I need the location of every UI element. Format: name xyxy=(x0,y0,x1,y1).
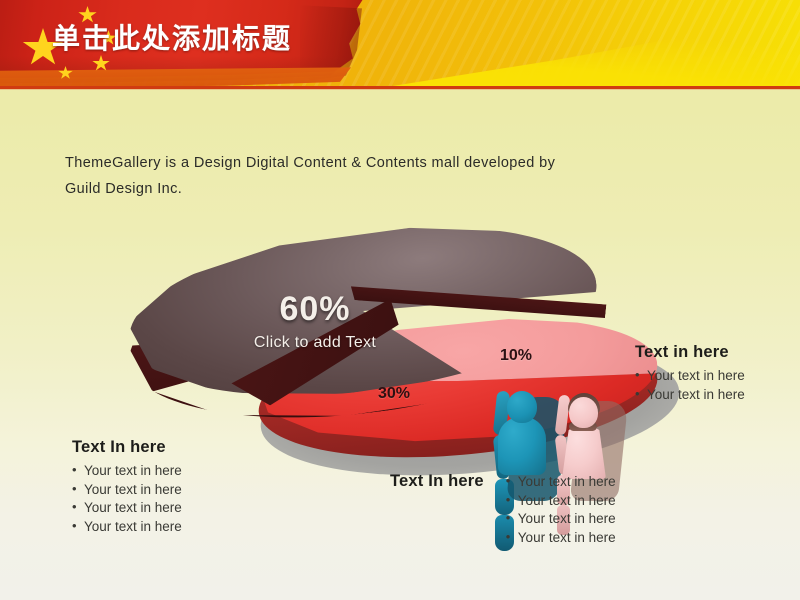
text-block-bottom[interactable]: Text In here Your text in here Your text… xyxy=(390,468,680,547)
text-block-left-heading: Text In here xyxy=(72,438,182,457)
list-item[interactable]: Your text in here xyxy=(506,529,616,548)
pie-center-placeholder[interactable]: Click to add Text xyxy=(200,334,430,352)
pie-label-10: 10% xyxy=(500,347,532,365)
header-under-glow xyxy=(0,89,800,90)
list-item[interactable]: Your text in here xyxy=(72,518,182,537)
text-block-bottom-list: Your text in here Your text in here Your… xyxy=(506,473,616,547)
pie-chart[interactable]: 60% Click to add Text 30% 10% xyxy=(110,195,700,485)
female-head xyxy=(569,397,598,428)
text-block-bottom-row: Text In here Your text in here Your text… xyxy=(390,468,680,547)
male-head xyxy=(507,391,537,423)
text-block-right-heading: Text in here xyxy=(635,343,745,362)
text-block-bottom-heading: Text In here xyxy=(390,472,484,491)
text-block-right-list: Your text in here Your text in here xyxy=(635,367,745,404)
pie-label-60-group: 60% Click to add Text xyxy=(200,290,430,352)
text-block-left[interactable]: Text In here Your text in here Your text… xyxy=(72,438,182,536)
list-item[interactable]: Your text in here xyxy=(506,492,616,511)
page-title[interactable]: 单击此处添加标题 xyxy=(52,17,352,57)
male-torso xyxy=(498,417,546,475)
text-block-left-list: Your text in here Your text in here Your… xyxy=(72,462,182,536)
list-item[interactable]: Your text in here xyxy=(72,462,182,481)
pie-label-30: 30% xyxy=(378,385,410,403)
list-item[interactable]: Your text in here xyxy=(72,499,182,518)
list-item[interactable]: Your text in here xyxy=(635,367,745,386)
slide-canvas: 单击此处添加标题 ThemeGallery is a Design Digita… xyxy=(0,0,800,600)
pie-label-60: 60% xyxy=(200,290,430,329)
description-line-1: ThemeGallery is a Design Digital Content… xyxy=(65,155,555,171)
list-item[interactable]: Your text in here xyxy=(635,386,745,405)
slide-header: 单击此处添加标题 xyxy=(0,0,800,90)
female-arm-left xyxy=(555,394,571,435)
list-item[interactable]: Your text in here xyxy=(506,510,616,529)
text-block-right[interactable]: Text in here Your text in here Your text… xyxy=(635,343,745,404)
list-item[interactable]: Your text in here xyxy=(506,473,616,492)
list-item[interactable]: Your text in here xyxy=(72,481,182,500)
